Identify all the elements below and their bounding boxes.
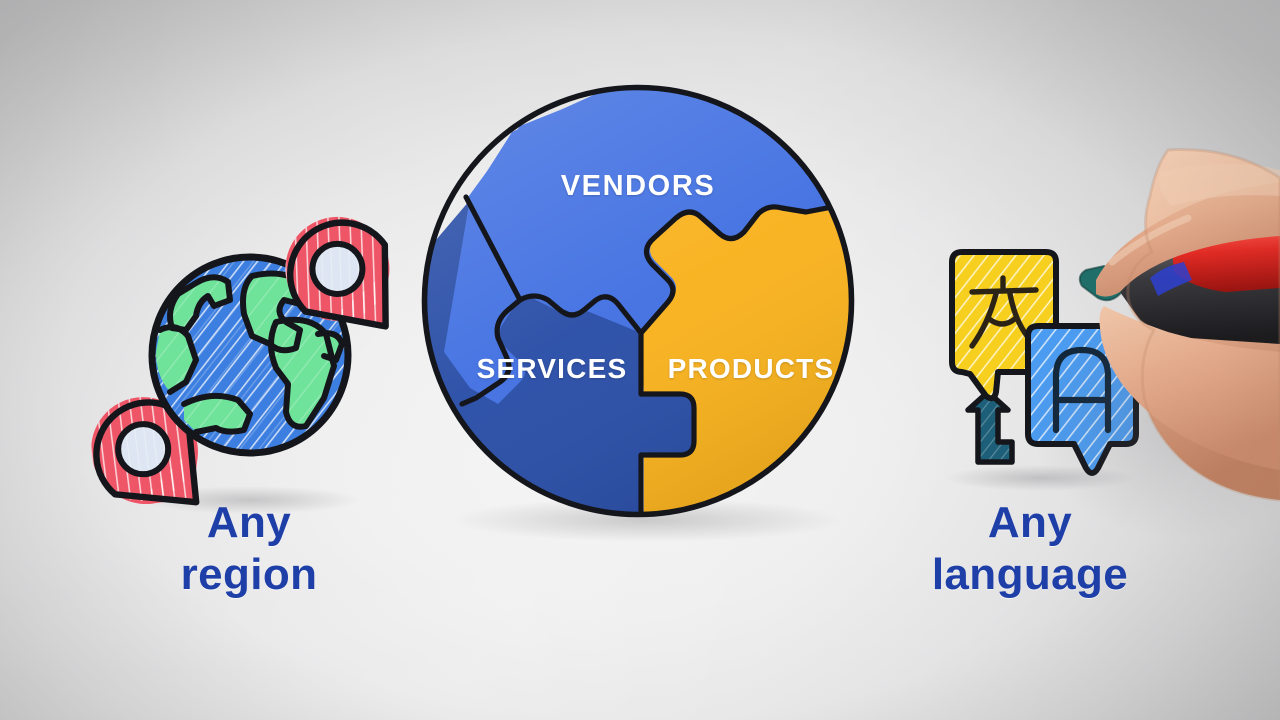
caption-any-language: Any language [880, 497, 1180, 601]
puzzle-label-vendors: VENDORS [518, 170, 758, 203]
puzzle-label-services: SERVICES [452, 353, 652, 385]
caption-any-region: Any region [118, 497, 380, 601]
whiteboard-scene: VENDORS SERVICES PRODUCTS Any region Any… [0, 0, 1280, 720]
puzzle-label-products: PRODUCTS [645, 353, 857, 385]
